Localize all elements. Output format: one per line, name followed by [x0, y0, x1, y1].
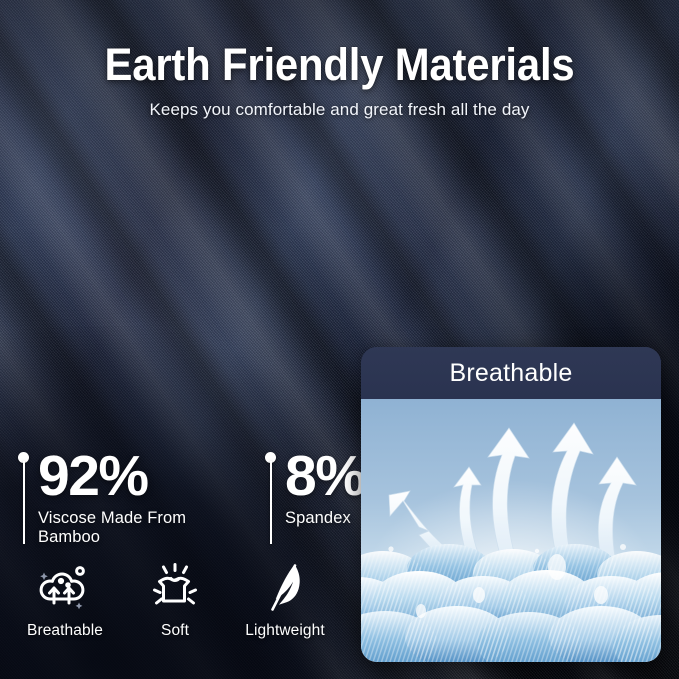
- breathable-card-title: Breathable: [450, 359, 573, 388]
- stat-value: 92%: [38, 450, 223, 504]
- feature-soft: Soft: [120, 560, 230, 640]
- feature-label: Lightweight: [230, 622, 340, 640]
- stat-item-viscose: 92% Viscose Made From Bamboo: [18, 448, 223, 547]
- breathable-airflow-icon: [10, 560, 120, 616]
- breathable-illustration: [361, 399, 661, 662]
- breathable-card: Breathable: [361, 347, 661, 662]
- feature-lightweight: Lightweight: [230, 560, 340, 640]
- feather-icon: [230, 560, 340, 616]
- stat-item-spandex: 8% Spandex: [265, 448, 364, 544]
- pin-marker-icon: [265, 452, 276, 544]
- pin-stem-icon: [270, 461, 272, 544]
- stat-label: Spandex: [285, 509, 364, 528]
- stat-value: 8%: [285, 450, 364, 504]
- page-title: Earth Friendly Materials: [24, 42, 655, 88]
- breathable-card-header: Breathable: [361, 347, 661, 399]
- soft-fabric-icon: [120, 560, 230, 616]
- stat-body: 8% Spandex: [285, 448, 364, 528]
- page-subtitle: Keeps you comfortable and great fresh al…: [0, 100, 679, 120]
- product-infographic: Earth Friendly Materials Keeps you comfo…: [0, 0, 679, 679]
- pin-marker-icon: [18, 452, 29, 544]
- composition-stats: 92% Viscose Made From Bamboo 8% Spandex: [18, 448, 364, 547]
- feature-breathable: Breathable: [10, 560, 120, 640]
- feature-label: Breathable: [10, 622, 120, 640]
- stat-label: Viscose Made From Bamboo: [38, 509, 223, 547]
- pin-stem-icon: [23, 461, 25, 544]
- feature-icon-row: Breathable Soft: [10, 560, 340, 640]
- stat-body: 92% Viscose Made From Bamboo: [38, 448, 223, 547]
- feature-label: Soft: [120, 622, 230, 640]
- woven-fiber-mesh: [361, 399, 661, 662]
